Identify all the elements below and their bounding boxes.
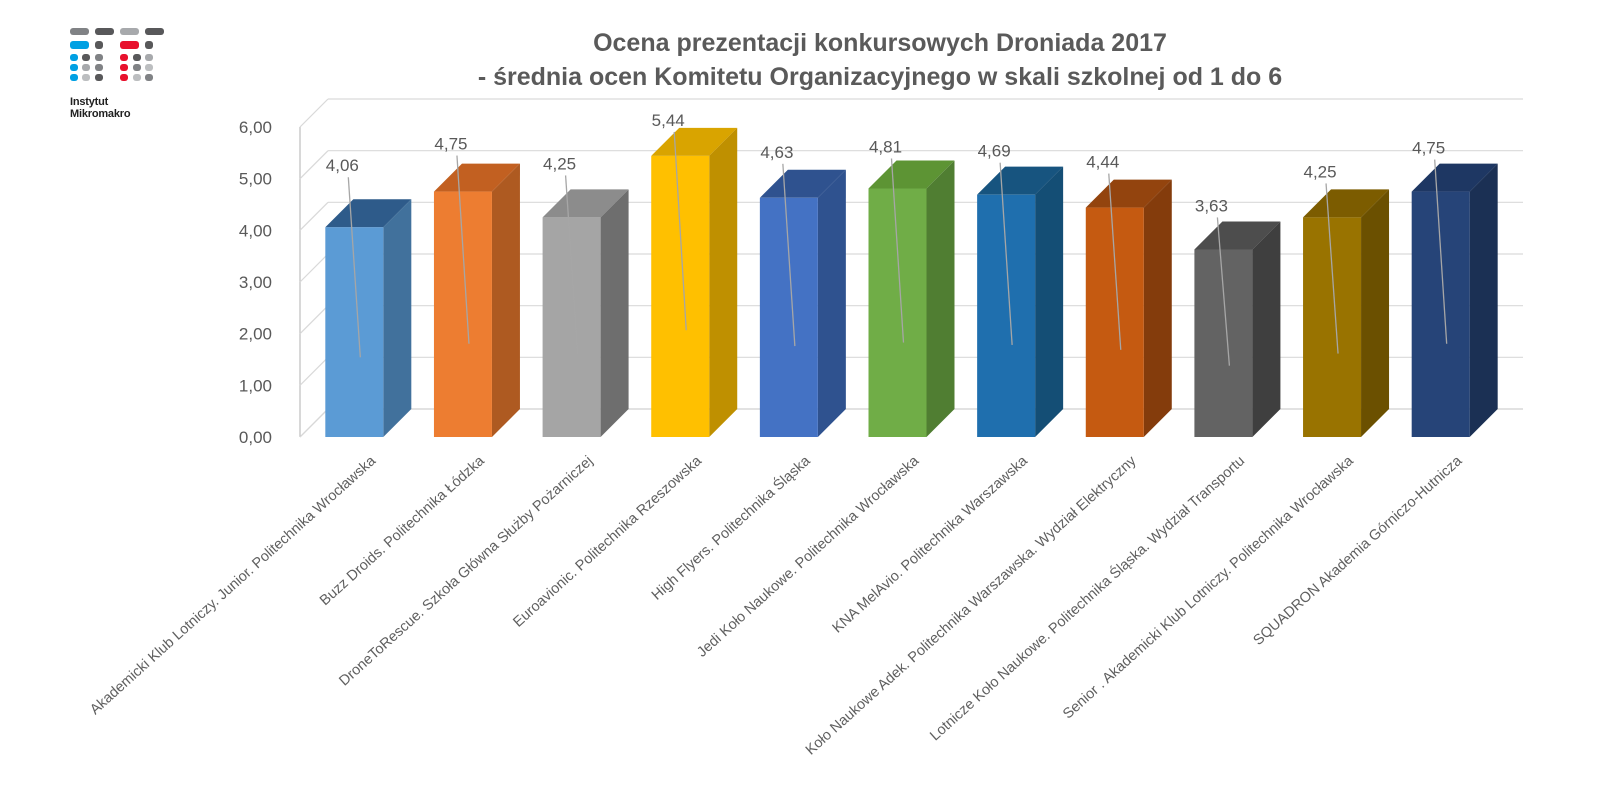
- bar-column[interactable]: [760, 170, 846, 437]
- chart-category-labels: Akademicki Klub Lotniczy. Junior. Polite…: [87, 451, 1466, 758]
- x-axis-category-label: Jedi Koło Naukowe. Politechnika Wrocławs…: [694, 452, 923, 660]
- y-axis-tick-label: 6,00: [239, 118, 272, 137]
- bar-value-label: 3,63: [1195, 196, 1228, 215]
- y-axis-tick-label: 0,00: [239, 428, 272, 447]
- bar-column[interactable]: [1086, 180, 1172, 437]
- bar-value-label: 4,06: [326, 156, 359, 175]
- bar-value-label: 4,63: [760, 143, 793, 162]
- bar-column[interactable]: [869, 160, 955, 437]
- x-axis-category-label: DroneToRescue. Szkoła Główna Służby Poża…: [336, 453, 596, 689]
- bar-value-label: 4,81: [869, 137, 902, 156]
- bar-column[interactable]: [651, 128, 737, 437]
- x-axis-category-label: Euroavionic. Politechnika Rzeszowska: [510, 452, 705, 630]
- bar-value-label: 4,44: [1086, 153, 1119, 172]
- bar-value-label: 4,25: [1303, 162, 1336, 181]
- chart-plot-area: 0,001,002,003,004,005,006,00 4,064,754,2…: [0, 0, 1600, 812]
- x-axis-category-label: KNA MelAvio. Politechnika Warszawska: [830, 452, 1032, 636]
- y-axis-tick-label: 4,00: [239, 221, 272, 240]
- bar-value-label: 4,75: [434, 135, 467, 154]
- bar-value-label: 4,75: [1412, 139, 1445, 158]
- chart-root: Instytut Mikromakro Ocena prezentacji ko…: [0, 0, 1600, 812]
- chart-y-axis-labels: 0,001,002,003,004,005,006,00: [239, 118, 272, 447]
- bar-value-label: 5,44: [652, 111, 685, 130]
- bar-column[interactable]: [434, 164, 520, 437]
- bar-column[interactable]: [1194, 221, 1280, 437]
- bar-value-label: 4,25: [543, 154, 576, 173]
- bar-column[interactable]: [1303, 189, 1389, 437]
- bar-column[interactable]: [325, 199, 411, 437]
- bar-value-label: 4,69: [978, 142, 1011, 161]
- bar-column[interactable]: [543, 189, 629, 437]
- y-axis-tick-label: 5,00: [239, 170, 272, 189]
- bar-column[interactable]: [1412, 164, 1498, 437]
- bar-column[interactable]: [977, 167, 1063, 437]
- y-axis-tick-label: 3,00: [239, 273, 272, 292]
- y-axis-tick-label: 1,00: [239, 376, 272, 395]
- y-axis-tick-label: 2,00: [239, 325, 272, 344]
- x-axis-category-label: SQUADRON Akademia Górniczo-Hutnicza: [1250, 452, 1466, 648]
